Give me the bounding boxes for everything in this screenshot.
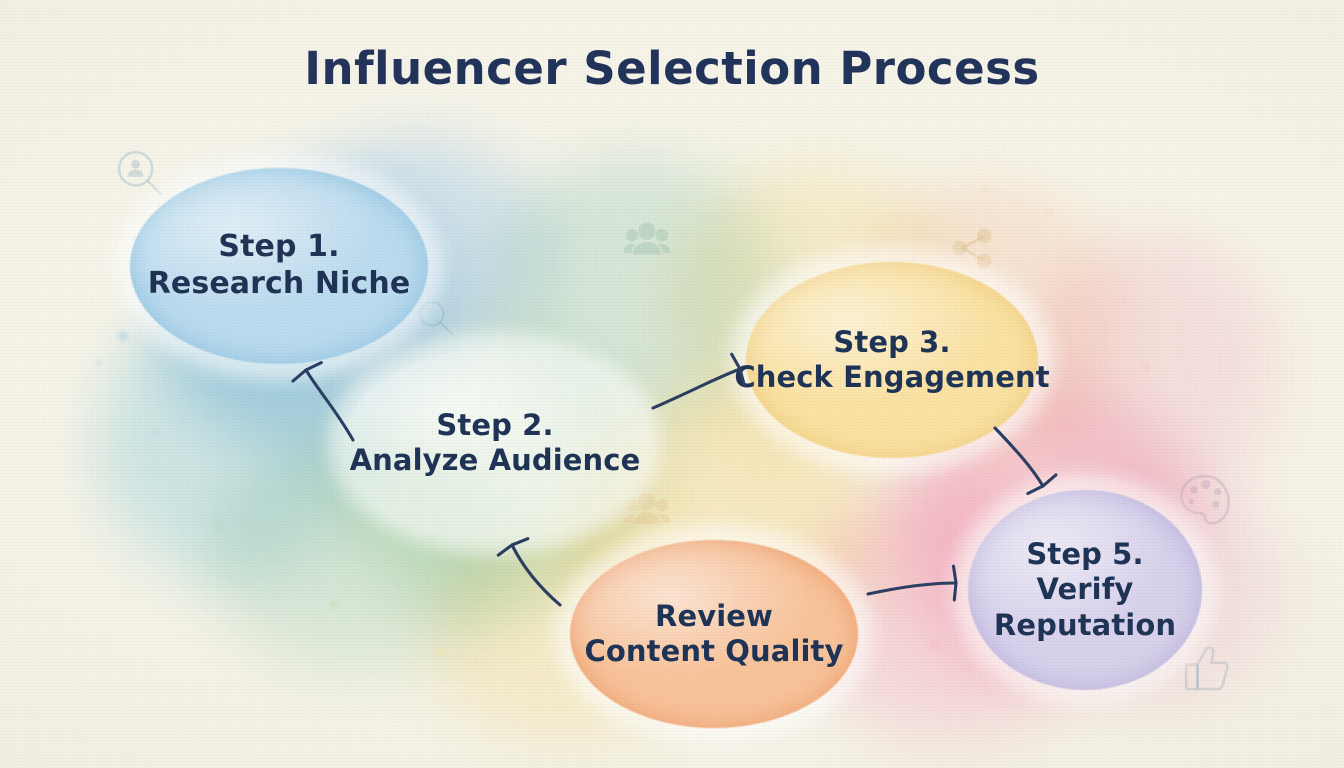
paint-splatter bbox=[470, 660, 476, 665]
page-title: Influencer Selection Process bbox=[0, 42, 1344, 95]
step-label-line: Research Niche bbox=[148, 266, 411, 303]
step-node-review-content-quality[interactable]: ReviewContent Quality bbox=[570, 540, 858, 728]
diagram-canvas: Influencer Selection Process Step 1.Rese… bbox=[0, 0, 1344, 768]
step-label-line: Verify bbox=[994, 572, 1176, 607]
paint-splatter bbox=[1142, 364, 1150, 371]
people-group-icon bbox=[622, 214, 672, 264]
paint-splatter bbox=[268, 556, 274, 561]
step-label-line: Step 5. bbox=[994, 537, 1176, 572]
step-node-analyze-audience[interactable]: Step 2.Analyze Audience bbox=[344, 348, 646, 538]
step-label: Step 2.Analyze Audience bbox=[344, 408, 647, 479]
paint-splatter bbox=[214, 520, 223, 528]
step-label-line: Analyze Audience bbox=[350, 443, 641, 478]
paint-splatter bbox=[436, 648, 445, 656]
paint-splatter bbox=[510, 636, 517, 642]
step-node-research-niche[interactable]: Step 1.Research Niche bbox=[130, 168, 428, 364]
paint-splatter bbox=[152, 430, 159, 436]
step-label-line: Step 1. bbox=[148, 229, 411, 266]
step-label-line: Reputation bbox=[994, 608, 1176, 643]
step-label-line: Content Quality bbox=[584, 634, 843, 669]
step-label-line: Check Engagement bbox=[734, 360, 1049, 395]
step-label: Step 5.VerifyReputation bbox=[988, 537, 1182, 643]
step-label: Step 3.Check Engagement bbox=[728, 325, 1055, 396]
paint-splatter bbox=[980, 186, 988, 193]
step-label: ReviewContent Quality bbox=[578, 599, 849, 670]
paint-splatter bbox=[330, 600, 338, 607]
paint-splatter bbox=[1046, 208, 1052, 213]
step-node-check-engagement[interactable]: Step 3.Check Engagement bbox=[746, 262, 1038, 458]
step-label: Step 1.Research Niche bbox=[142, 229, 417, 302]
step-node-verify-reputation[interactable]: Step 5.VerifyReputation bbox=[968, 490, 1202, 690]
step-label-line: Step 2. bbox=[350, 408, 641, 443]
step-label-line: Step 3. bbox=[734, 325, 1049, 360]
paint-splatter bbox=[118, 332, 128, 341]
paint-splatter bbox=[1120, 300, 1126, 305]
paint-splatter bbox=[96, 360, 102, 365]
paint-splatter bbox=[392, 618, 397, 622]
step-label-line: Review bbox=[584, 599, 843, 634]
paint-splatter bbox=[930, 640, 939, 648]
